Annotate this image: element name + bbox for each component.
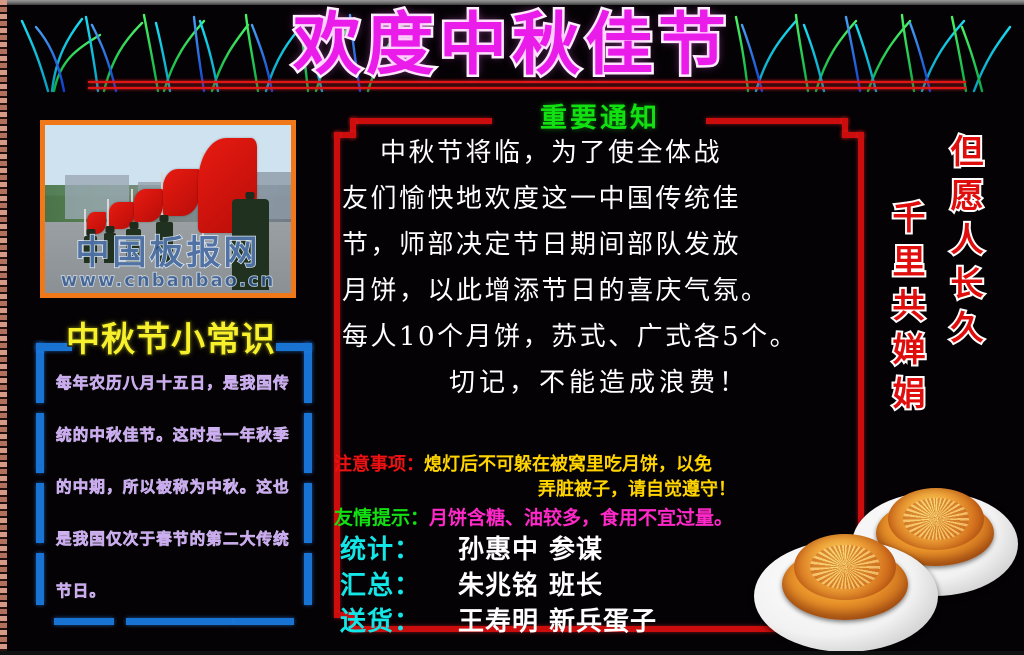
red-flag-4: [163, 169, 200, 216]
credit-role: 送货：: [340, 604, 458, 640]
credit-role: 汇总：: [340, 568, 458, 604]
notice-line: 每人10个月饼，苏式、广式各5个。: [342, 314, 856, 360]
fact-panel-title: 中秋节小常识: [40, 312, 302, 361]
fact-border-right-bottom: [304, 553, 312, 605]
notice-header: 重要通知: [330, 96, 870, 135]
couplet-char: 愿: [944, 174, 990, 218]
frame-left-edge: [0, 0, 7, 655]
notice-line: 中秋节将临，为了使全体战: [342, 130, 856, 176]
couplet-char: 里: [886, 240, 932, 284]
credit-person: 孙惠中 参谋: [458, 532, 603, 568]
couplet-char: 娟: [886, 372, 932, 416]
fact-border-right-mid2: [304, 483, 312, 543]
fact-line: 是我国仅次于春节的第二大传统: [56, 513, 298, 565]
credits-block: 统计： 孙惠中 参谋 汇总： 朱兆铭 班长 送货： 王寿明 新兵蛋子: [340, 532, 657, 640]
fact-border-left-mid: [36, 413, 44, 473]
fact-line: 每年农历八月十五日，是我国传: [56, 357, 298, 409]
fact-border-right-top: [304, 343, 312, 403]
fact-line: 节日。: [56, 565, 298, 617]
photo-watermark-url: www.cnbanbao.cn: [45, 270, 291, 291]
couplet-char: 千: [886, 196, 932, 240]
cake-front-top: [794, 534, 896, 600]
notice-line: 节，师部决定节日期间部队发放: [342, 222, 856, 268]
warning-label: 注意事项：: [334, 454, 424, 475]
credit-row: 汇总： 朱兆铭 班长: [340, 568, 657, 604]
credit-role: 统计：: [340, 532, 458, 568]
notice-body: 中秋节将临，为了使全体战 友们愉快地欢度这一中国传统佳 节，师部决定节日期间部队…: [342, 130, 856, 406]
tip-text: 月饼含糖、油较多，食用不宜过量。: [429, 507, 733, 529]
fact-line: 统的中秋佳节。这时是一年秋季: [56, 409, 298, 461]
couplet-char: 共: [886, 284, 932, 328]
fact-border-bottom-a: [54, 618, 114, 625]
fact-panel-body: 每年农历八月十五日，是我国传 统的中秋佳节。这时是一年秋季 的中期，所以被称为中…: [56, 357, 298, 617]
couplet-char: 长: [944, 262, 990, 306]
couplet-char: 人: [944, 218, 990, 262]
notice-line: 切记，不能造成浪费！: [342, 360, 856, 406]
honor-guard-photo: 中国板报网 www.cnbanbao.cn: [40, 120, 296, 298]
warning-line-1: 注意事项：熄灯后不可躲在被窝里吃月饼，以免: [334, 452, 864, 477]
warning-text-2: 弄脏被子，请自觉遵守！: [538, 479, 736, 500]
frame-bottom-edge: [0, 651, 1024, 655]
couplet-right-column: 但 愿 人 长 久: [944, 130, 990, 350]
mid-autumn-poster: 欢度中秋佳节 中国板报网 www.cnbanbao.cn: [0, 0, 1024, 655]
couplet-char: 但: [944, 130, 990, 174]
fact-border-right-mid: [304, 413, 312, 473]
tip-label: 友情提示：: [334, 507, 429, 529]
fact-border-bottom-c: [234, 618, 294, 625]
credit-row: 送货： 王寿明 新兵蛋子: [340, 604, 657, 640]
frame-top-edge: [0, 0, 1024, 5]
photo-watermark-main: 中国板报网: [45, 225, 291, 274]
fact-border-bottom-b: [126, 618, 234, 625]
tip-block: 友情提示：月饼含糖、油较多，食用不宜过量。: [334, 505, 864, 532]
notice-line: 友们愉快地欢度这一中国传统佳: [342, 176, 856, 222]
photo-scene: 中国板报网 www.cnbanbao.cn: [45, 125, 291, 293]
fact-border-left-mid2: [36, 483, 44, 543]
credit-person: 王寿明 新兵蛋子: [458, 604, 657, 640]
page-title: 欢度中秋佳节: [0, 6, 1024, 86]
couplet-char: 婵: [886, 328, 932, 372]
warning-text-1: 熄灯后不可躲在被窝里吃月饼，以免: [424, 454, 712, 475]
notice-line: 月饼，以此增添节日的喜庆气氛。: [342, 268, 856, 314]
credit-person: 朱兆铭 班长: [458, 568, 603, 604]
cake-back-top: [888, 488, 984, 550]
credit-row: 统计： 孙惠中 参谋: [340, 532, 657, 568]
title-rule-lower: [88, 87, 966, 89]
warning-line-2: 弄脏被子，请自觉遵守！: [334, 477, 864, 502]
fact-border-left-bottom: [36, 553, 44, 605]
warning-block: 注意事项：熄灯后不可躲在被窝里吃月饼，以免 弄脏被子，请自觉遵守！: [334, 452, 864, 502]
fact-panel: 每年农历八月十五日，是我国传 统的中秋佳节。这时是一年秋季 的中期，所以被称为中…: [36, 343, 312, 625]
couplet-char: 久: [944, 306, 990, 350]
fact-line: 的中期，所以被称为中秋。这也: [56, 461, 298, 513]
couplet-left-column: 千 里 共 婵 娟: [886, 196, 932, 416]
